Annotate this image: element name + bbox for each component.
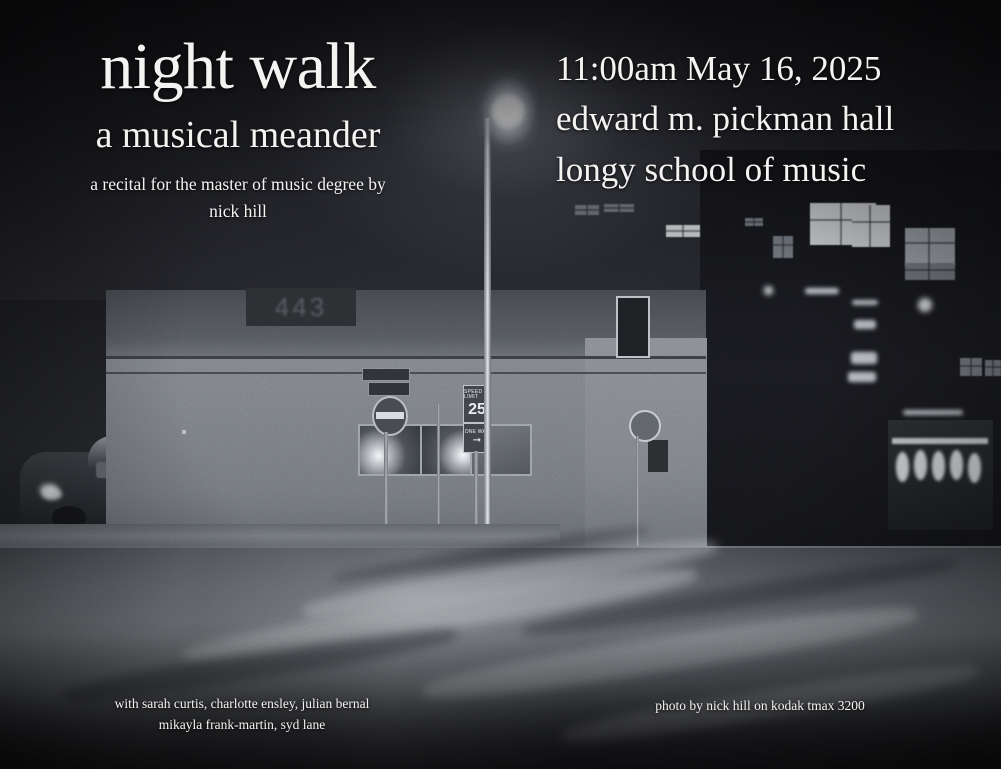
event-venue: edward m. pickman hall <box>556 94 976 144</box>
event-institution: longy school of music <box>556 145 976 195</box>
sign-bar <box>376 412 404 419</box>
light-streak <box>805 288 839 294</box>
photo-credit-text: photo by nick hill on kodak tmax 3200 <box>630 696 890 716</box>
lit-window <box>773 236 793 258</box>
light-streak <box>903 410 963 415</box>
lit-window <box>745 218 763 226</box>
spacer <box>182 430 186 434</box>
light-glow <box>918 298 932 312</box>
streetlamp-pole <box>484 118 491 550</box>
lit-window <box>604 204 634 212</box>
performers-line-2: mikayla frank-martin, syd lane <box>92 715 392 736</box>
building-window <box>616 296 650 358</box>
streetlamp-glow <box>491 94 525 128</box>
building-right-wall <box>585 338 707 550</box>
light-streak <box>854 320 876 329</box>
do-not-enter-sign <box>372 396 408 436</box>
no-left-turn-sign <box>629 410 661 442</box>
light-streak <box>848 372 876 382</box>
description-line-2: nick hill <box>36 198 440 225</box>
lit-window <box>905 263 955 280</box>
street-name-sign <box>368 382 410 396</box>
poster: 443 SPEED LIMIT 25 ONE WAY ➞ <box>0 0 1001 769</box>
event-datetime: 11:00am May 16, 2025 <box>556 44 976 94</box>
poster-description: a recital for the master of music degree… <box>36 171 440 225</box>
description-line-1: a recital for the master of music degree… <box>36 171 440 198</box>
performers-credit: with sarah curtis, charlotte ensley, jul… <box>92 694 392 736</box>
building-number-text: 443 <box>246 288 356 326</box>
photo-credit: photo by nick hill on kodak tmax 3200 <box>630 696 890 716</box>
storefront-glow <box>896 452 909 482</box>
storefront-glow <box>932 451 945 481</box>
lit-window <box>905 228 955 266</box>
poster-title: night walk <box>36 34 440 100</box>
right-storefront <box>888 420 993 530</box>
lit-window <box>666 225 700 237</box>
poster-subtitle: a musical meander <box>36 114 440 158</box>
building-number-sign: 443 <box>246 288 356 326</box>
arrow-right-icon: ➞ <box>473 436 481 446</box>
building-door <box>648 440 668 472</box>
event-info-block: 11:00am May 16, 2025 edward m. pickman h… <box>556 44 976 195</box>
light-glow <box>764 286 773 295</box>
storefront-glow <box>950 450 963 480</box>
lit-window <box>575 205 599 215</box>
street-name-sign <box>362 368 410 381</box>
lit-window <box>852 205 890 247</box>
light-streak <box>852 300 878 305</box>
lit-window <box>985 360 1001 376</box>
storefront-glow <box>968 453 981 483</box>
storefront-glow <box>914 450 927 480</box>
light-glow <box>40 484 58 496</box>
lit-window <box>960 358 982 376</box>
storefront-light-bar <box>892 438 988 444</box>
performers-line-1: with sarah curtis, charlotte ensley, jul… <box>92 694 392 715</box>
light-streak <box>851 352 877 364</box>
title-block: night walk a musical meander a recital f… <box>36 34 440 225</box>
